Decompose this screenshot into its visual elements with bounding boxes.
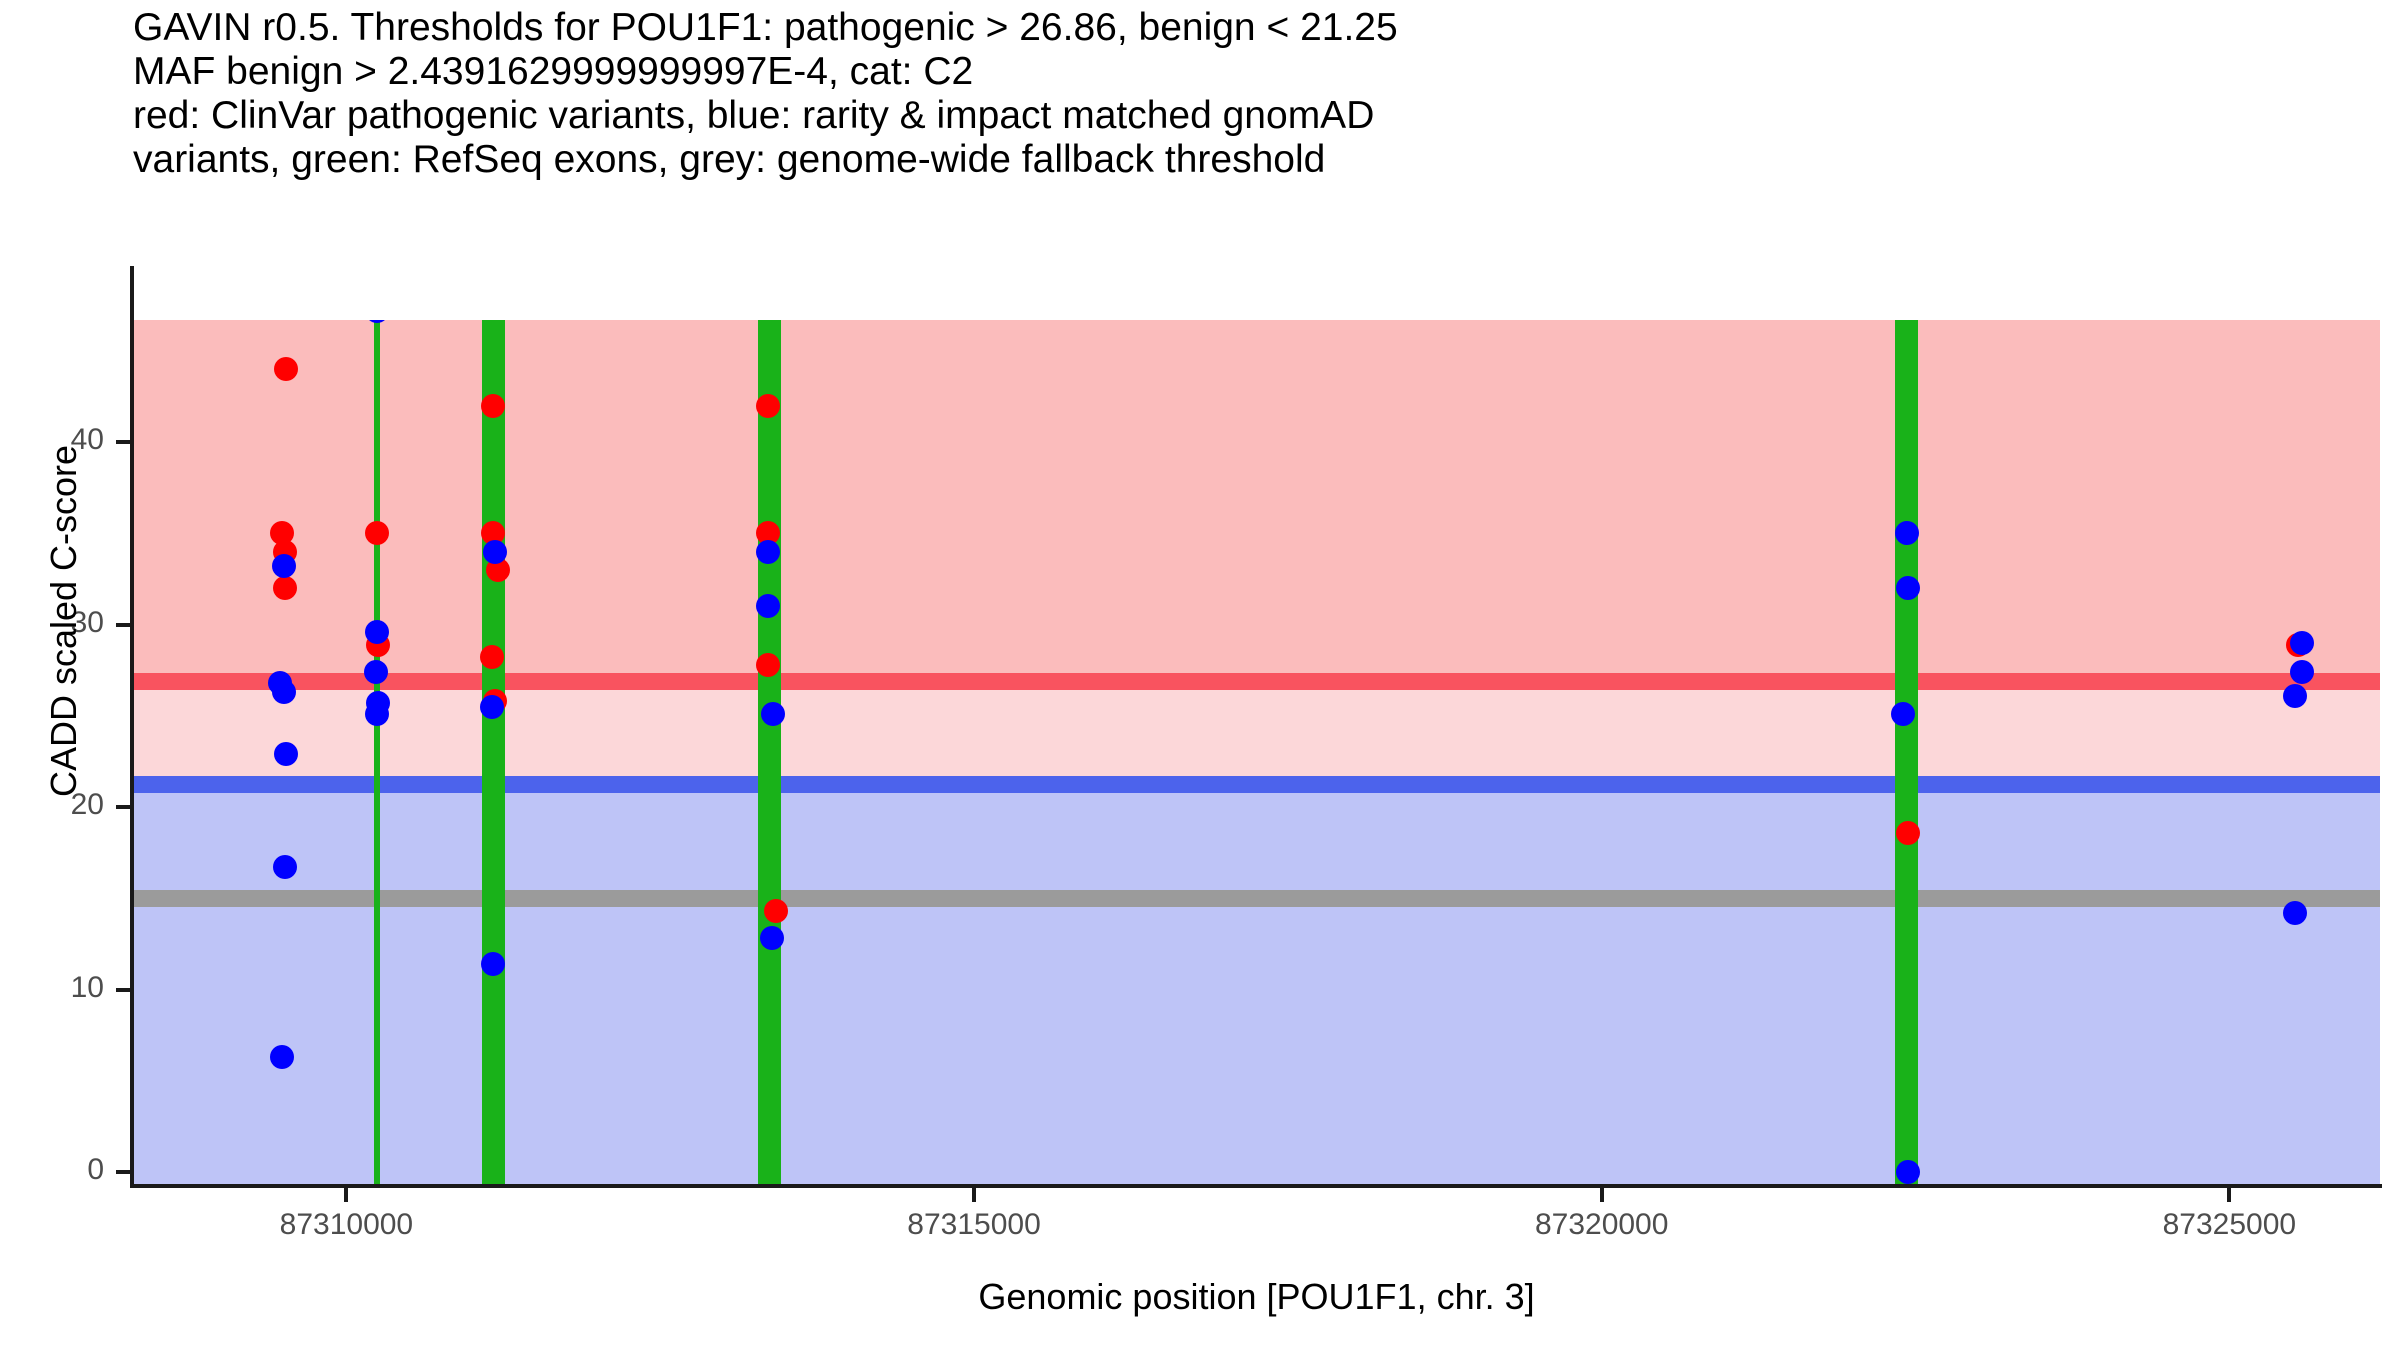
- x-tick-mark: [1600, 1188, 1604, 1202]
- pathogenic-point: [273, 576, 297, 600]
- chart-title: GAVIN r0.5. Thresholds for POU1F1: patho…: [133, 6, 2333, 182]
- benign-region-upper: [133, 793, 2380, 890]
- population-point: [480, 695, 504, 719]
- plot-area: [133, 320, 2380, 1186]
- title-line-4: variants, green: RefSeq exons, grey: gen…: [133, 138, 2333, 182]
- population-point: [2283, 901, 2307, 925]
- pathogenic-point: [1896, 821, 1920, 845]
- x-tick-label: 87315000: [844, 1208, 1104, 1242]
- population-point: [2283, 684, 2307, 708]
- x-tick-label: 87310000: [216, 1208, 476, 1242]
- x-tick-label: 87325000: [2099, 1208, 2359, 1242]
- population-point: [1895, 521, 1919, 545]
- population-point: [483, 540, 507, 564]
- x-tick-mark: [344, 1188, 348, 1202]
- exon-band-4: [1895, 320, 1918, 1186]
- exon-band-2: [482, 320, 505, 1186]
- x-axis-label: Genomic position [POU1F1, chr. 3]: [133, 1276, 2380, 1318]
- pathogenic-point: [365, 521, 389, 545]
- ambiguous-region: [133, 690, 2380, 775]
- pathogenic-point: [274, 357, 298, 381]
- pathogenic-point: [764, 899, 788, 923]
- chart-figure: GAVIN r0.5. Thresholds for POU1F1: patho…: [0, 0, 2400, 1350]
- population-point: [1896, 576, 1920, 600]
- population-point: [365, 702, 389, 726]
- benign-region-lower: [133, 907, 2380, 1186]
- population-point: [2290, 631, 2314, 655]
- x-tick-mark: [972, 1188, 976, 1202]
- y-axis-label: CADD scaled C-score: [43, 281, 85, 961]
- population-point: [273, 855, 297, 879]
- y-tick-mark: [116, 440, 130, 444]
- population-point: [756, 540, 780, 564]
- pathogenic-point: [481, 394, 505, 418]
- pathogenic-point: [756, 653, 780, 677]
- population-point: [761, 702, 785, 726]
- population-point: [2290, 660, 2314, 684]
- population-point: [364, 660, 388, 684]
- population-point: [272, 680, 296, 704]
- pathogenic-point: [756, 394, 780, 418]
- title-line-1: GAVIN r0.5. Thresholds for POU1F1: patho…: [133, 6, 2333, 50]
- population-point: [272, 554, 296, 578]
- y-tick-mark: [116, 1170, 130, 1174]
- population-point: [1896, 1160, 1920, 1184]
- pathogenic-threshold-line: [133, 673, 2380, 690]
- x-axis-line: [130, 1184, 2382, 1188]
- title-line-3: red: ClinVar pathogenic variants, blue: …: [133, 94, 2333, 138]
- benign-threshold-line: [133, 776, 2380, 793]
- x-tick-label: 87320000: [1472, 1208, 1732, 1242]
- pathogenic-region: [133, 320, 2380, 673]
- y-tick-label: 0: [14, 1153, 104, 1187]
- exon-band-1: [374, 320, 380, 1186]
- population-point: [365, 620, 389, 644]
- y-tick-mark: [116, 623, 130, 627]
- y-axis-line: [130, 266, 134, 1186]
- exon-band-3: [758, 320, 781, 1186]
- fallback-threshold-line: [133, 890, 2380, 907]
- x-tick-mark: [2227, 1188, 2231, 1202]
- population-point: [1891, 702, 1915, 726]
- y-tick-mark: [116, 805, 130, 809]
- title-line-2: MAF benign > 2.4391629999999997E-4, cat:…: [133, 50, 2333, 94]
- y-tick-label: 10: [14, 971, 104, 1005]
- y-tick-mark: [116, 988, 130, 992]
